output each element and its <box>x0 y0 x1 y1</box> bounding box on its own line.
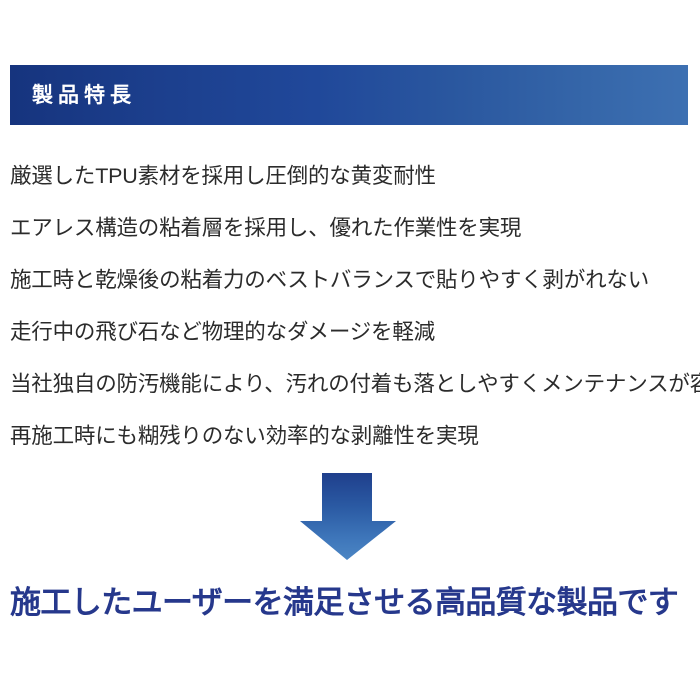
feature-item: 走行中の飛び石など物理的なダメージを軽減 <box>10 306 698 358</box>
feature-list: 厳選したTPU素材を採用し圧倒的な黄変耐性 エアレス構造の粘着層を採用し、優れた… <box>10 150 698 462</box>
feature-item: 施工時と乾燥後の粘着力のベストバランスで貼りやすく剥がれない <box>10 254 698 306</box>
feature-item: 再施工時にも糊残りのない効率的な剥離性を実現 <box>10 410 698 462</box>
product-features-page: 製品特長 厳選したTPU素材を採用し圧倒的な黄変耐性 エアレス構造の粘着層を採用… <box>0 0 700 700</box>
feature-item: 当社独自の防汚機能により、汚れの付着も落としやすくメンテナンスが容易 <box>10 358 698 410</box>
feature-item: 厳選したTPU素材を採用し圧倒的な黄変耐性 <box>10 150 698 202</box>
arrow-down-icon <box>299 470 399 562</box>
conclusion-headline: 施工したユーザーを満足させる高品質な製品です <box>10 580 698 626</box>
section-banner: 製品特長 <box>10 65 688 125</box>
page-title: 製品特長 <box>32 85 136 106</box>
feature-item: エアレス構造の粘着層を採用し、優れた作業性を実現 <box>10 202 698 254</box>
